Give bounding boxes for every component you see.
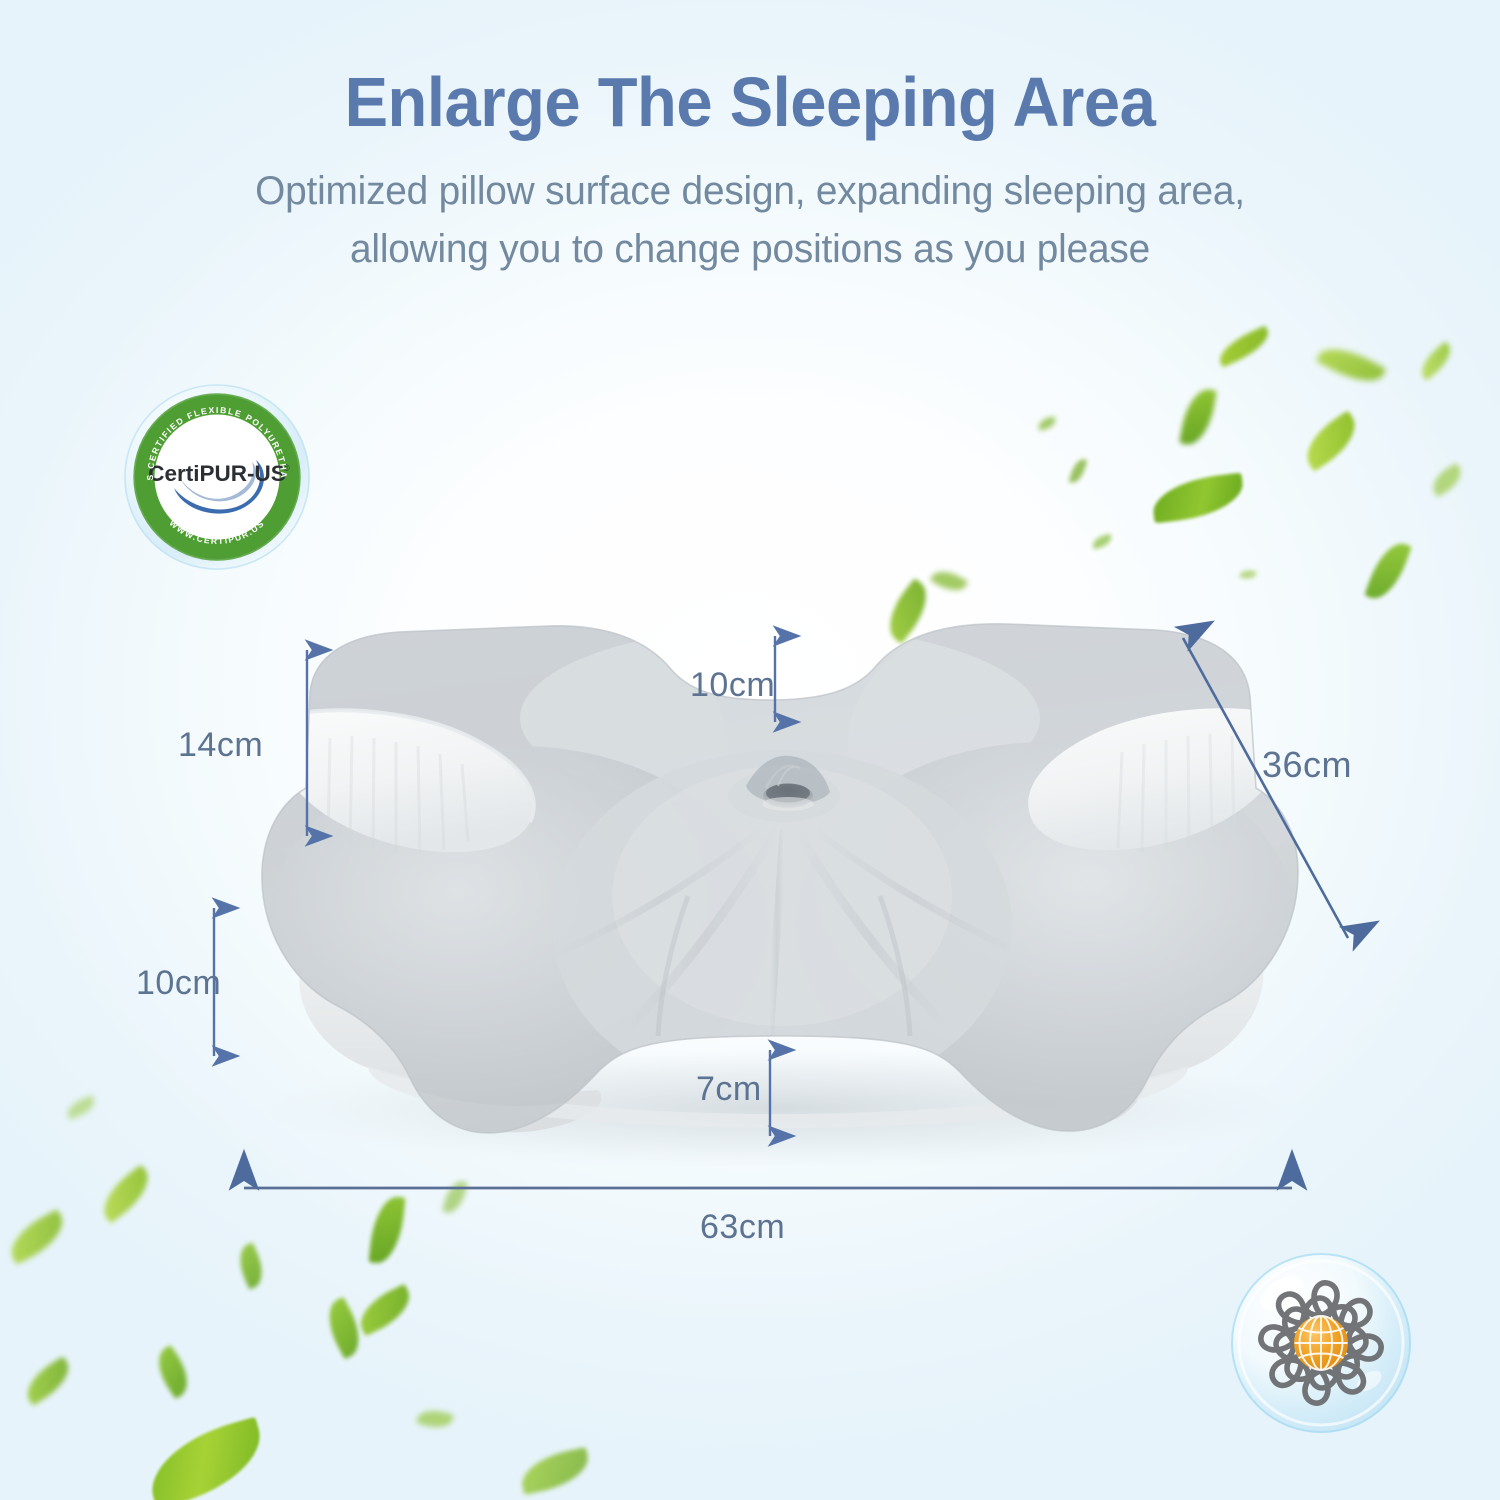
leaf-icon: [369, 1195, 406, 1266]
leaf-icon: [416, 1406, 454, 1433]
dimension-label-63cm: 63cm: [700, 1208, 785, 1247]
leaf-icon: [517, 1447, 593, 1495]
leaf-icon: [1239, 569, 1256, 581]
leaf-icon: [1214, 326, 1274, 368]
leaf-icon: [3, 1209, 72, 1265]
header-block: Enlarge The Sleeping Area Optimized pill…: [0, 0, 1500, 278]
pillow-product-image: [218, 596, 1343, 1166]
page-title: Enlarge The Sleeping Area: [53, 66, 1448, 140]
subtitle-line-1: Optimized pillow surface design, expandi…: [255, 169, 1245, 213]
dimension-label-36cm: 36cm: [1262, 744, 1352, 786]
dimension-label-10cm-top: 10cm: [690, 666, 775, 705]
leaf-icon: [1415, 341, 1457, 381]
leaf-icon: [149, 1345, 197, 1399]
leaf-icon: [94, 1164, 159, 1223]
certipur-badge-icon: CertiPUR-US ® CONTAINS CERTIFIED FLEXIBL…: [122, 382, 312, 572]
leaf-icon: [1179, 386, 1217, 448]
knot-globe-bubble-icon: [1226, 1248, 1416, 1438]
dimension-label-10cm-lower: 10cm: [136, 964, 221, 1003]
leaf-icon: [232, 1242, 269, 1289]
leaf-icon: [1296, 410, 1365, 471]
leaf-icon: [442, 1178, 468, 1215]
pillow-illustration: [218, 596, 1343, 1166]
leaf-icon: [318, 1297, 369, 1360]
globe-icon: [1294, 1316, 1348, 1370]
leaf-icon: [1427, 463, 1466, 497]
leaf-icon: [1037, 416, 1057, 431]
leaf-icon: [1069, 457, 1088, 485]
infographic-canvas: Enlarge The Sleeping Area Optimized pill…: [0, 0, 1500, 1500]
dimension-label-7cm: 7cm: [696, 1070, 762, 1109]
leaf-icon: [352, 1284, 417, 1336]
leaf-icon: [1150, 473, 1246, 524]
leaf-icon: [19, 1356, 77, 1406]
certipur-brand-text: CertiPUR-US: [148, 461, 286, 486]
leaf-icon: [1316, 338, 1386, 392]
leaf-icon: [140, 1417, 272, 1500]
leaf-icon: [1364, 537, 1412, 605]
certipur-us-badge: CertiPUR-US ® CONTAINS CERTIFIED FLEXIBL…: [122, 382, 312, 572]
leaf-icon: [1091, 534, 1113, 550]
bubble-globe-knot-graphic: [1226, 1248, 1416, 1438]
leaf-icon: [64, 1095, 97, 1119]
dimension-label-14cm: 14cm: [178, 726, 263, 765]
subtitle-line-2: allowing you to change positions as you …: [202, 220, 1298, 278]
leaf-icon: [930, 565, 968, 598]
page-subtitle: Optimized pillow surface design, expandi…: [202, 162, 1298, 278]
